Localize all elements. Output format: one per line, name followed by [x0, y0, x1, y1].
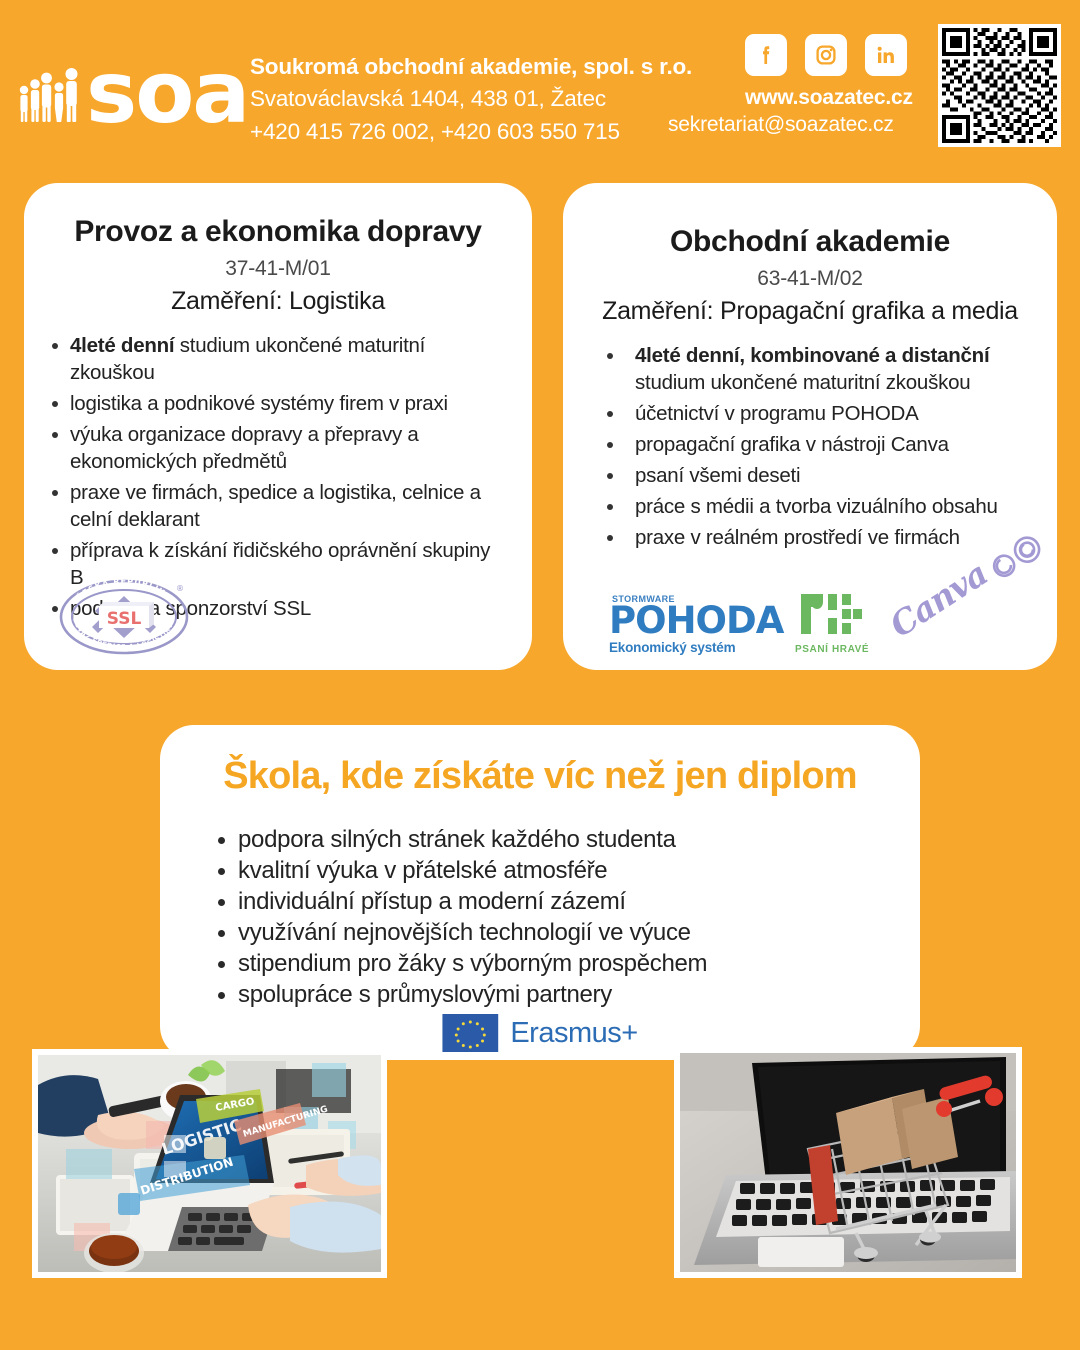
- list-item: kvalitní výuka v přátelské atmosféře: [238, 855, 920, 886]
- program-bullet-list: 4leté denní, kombinované a distanční stu…: [635, 342, 1039, 551]
- instagram-icon[interactable]: [805, 34, 847, 76]
- erasmus-plus-logo: Erasmus+: [442, 1014, 637, 1052]
- psani-hrave-tagline: PSANÍ HRAVÉ: [795, 644, 869, 655]
- school-contact-block: Soukromá obchodní akademie, spol. s r.o.…: [250, 52, 692, 148]
- website-url[interactable]: www.soazatec.cz: [745, 86, 913, 110]
- program-code: 37-41-M/01: [24, 257, 532, 281]
- pohoda-logo: STORMWARE POHODA Ekonomický systém: [609, 594, 783, 655]
- program-card-business: Obchodní akademie 63-41-M/02 Zaměření: P…: [563, 183, 1057, 670]
- list-item: spolupráce s průmyslovými partnery: [238, 979, 920, 1010]
- school-name: Soukromá obchodní akademie, spol. s r.o.: [250, 52, 692, 82]
- list-item: praxe ve firmách, spedice a logistika, c…: [70, 479, 508, 533]
- erasmus-label: Erasmus+: [510, 1017, 637, 1050]
- facebook-icon[interactable]: [745, 34, 787, 76]
- bullet-text: účetnictví v programu POHODA: [635, 402, 919, 425]
- psani-hrave-logo: PSANÍ HRAVÉ: [795, 594, 869, 655]
- highlight-title: Škola, kde získáte víc než jen diplom: [160, 725, 920, 798]
- program-code: 63-41-M/02: [563, 267, 1057, 291]
- list-item: stipendium pro žáky s výborným prospěche…: [238, 948, 920, 979]
- bullet-bold: 4leté denní: [70, 334, 174, 357]
- partner-logos-left: SSL ČESKÁ REPUBLIKA SVAZ SPEDICE A LOGIS…: [58, 578, 190, 656]
- program-card-transport: Provoz a ekonomika dopravy 37-41-M/01 Za…: [24, 183, 532, 670]
- psani-hrave-mark: [801, 621, 863, 638]
- bullet-text: propagační grafika v nástroji Canva: [635, 433, 949, 456]
- list-item: účetnictví v programu POHODA: [635, 400, 1039, 427]
- program-heading-block: Obchodní akademie 63-41-M/02 Zaměření: P…: [563, 183, 1057, 326]
- list-item: propagační grafika v nástroji Canva: [635, 431, 1039, 458]
- list-item: 4leté denní studium ukončené maturitní z…: [70, 332, 508, 386]
- highlight-card: Škola, kde získáte víc než jen diplom po…: [160, 725, 920, 1060]
- pohoda-tagline: Ekonomický systém: [609, 640, 783, 655]
- partner-logos-right: STORMWARE POHODA Ekonomický systém: [563, 568, 1057, 660]
- school-address: Svatováclavská 1404, 438 01, Žatec: [250, 82, 692, 115]
- list-item: podpora silných stránek každého studenta: [238, 824, 920, 855]
- list-item: 4leté denní, kombinované a distanční stu…: [635, 342, 1039, 396]
- program-features: 4leté denní, kombinované a distanční stu…: [563, 342, 1057, 551]
- bullet-text: výuka organizace dopravy a přepravy a ek…: [70, 423, 419, 473]
- soa-logo: soa: [18, 48, 243, 136]
- bullet-text: práce s médii a tvorba vizuálního obsahu: [635, 495, 998, 518]
- bullet-text: praxe v reálném prostředí ve firmách: [635, 526, 960, 549]
- registered-mark: ®: [176, 584, 184, 593]
- bullet-text: logistika a podnikové systémy firem v pr…: [70, 392, 448, 415]
- email-address[interactable]: sekretariat@soazatec.cz: [668, 113, 894, 137]
- school-phone: +420 415 726 002, +420 603 550 715: [250, 115, 692, 148]
- program-title: Provoz a ekonomika dopravy: [24, 215, 532, 249]
- program-heading-block: Provoz a ekonomika dopravy 37-41-M/01 Za…: [24, 183, 532, 316]
- bullet-bold: 4leté denní, kombinované a distanční: [635, 344, 989, 367]
- bullet-text: studium ukončené maturitní zkouškou: [635, 371, 970, 394]
- photo-logistics-laptop: LOGISTIC DISTRIBUTION CARGO MANUFACTURIN…: [32, 1049, 387, 1278]
- list-item: individuální přístup a moderní zázemí: [238, 886, 920, 917]
- list-item: psaní všemi deseti: [635, 462, 1039, 489]
- eu-flag-icon: [442, 1014, 498, 1052]
- program-focus: Zaměření: Logistika: [24, 287, 532, 316]
- canva-wordmark: Canva: [883, 554, 994, 645]
- program-title: Obchodní akademie: [563, 225, 1057, 259]
- bullet-text: psaní všemi deseti: [635, 464, 800, 487]
- qr-code[interactable]: [938, 24, 1061, 147]
- list-item: využívání nejnovějších technologií ve vý…: [238, 917, 920, 948]
- list-item: výuka organizace dopravy a přepravy a ek…: [70, 421, 508, 475]
- soa-logo-wordmark: soa: [86, 50, 248, 136]
- list-item: praxe v reálném prostředí ve firmách: [635, 524, 1039, 551]
- page-header: soa Soukromá obchodní akademie, spol. s …: [0, 0, 1080, 175]
- program-focus: Zaměření: Propagační grafika a media: [563, 297, 1057, 326]
- list-item: práce s médii a tvorba vizuálního obsahu: [635, 493, 1039, 520]
- linkedin-icon[interactable]: [865, 34, 907, 76]
- pohoda-brand: POHODA: [609, 604, 783, 638]
- ssl-center-text: SSL: [107, 609, 142, 629]
- photo-shopping-cart-laptop: [674, 1047, 1022, 1278]
- people-group-icon: [18, 62, 82, 129]
- social-links[interactable]: [745, 34, 907, 76]
- ssl-badge-logo: SSL ČESKÁ REPUBLIKA SVAZ SPEDICE A LOGIS…: [58, 578, 190, 656]
- highlight-bullet-list: podpora silných stránek každého studenta…: [160, 824, 920, 1010]
- list-item: logistika a podnikové systémy firem v pr…: [70, 390, 508, 417]
- bullet-text: praxe ve firmách, spedice a logistika, c…: [70, 481, 481, 531]
